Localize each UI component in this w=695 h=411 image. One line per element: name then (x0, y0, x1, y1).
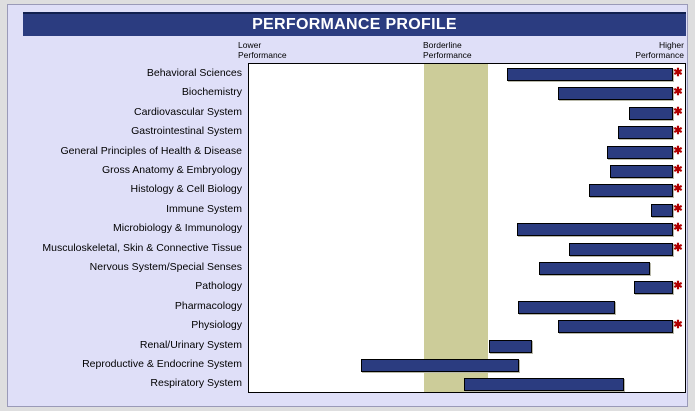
category-label: Histology & Cell Biology (131, 180, 242, 199)
category-label: Biochemistry (182, 83, 242, 102)
report-panel: PERFORMANCE PROFILE Lower Performance Bo… (7, 4, 688, 407)
category-label: Gastrointestinal System (131, 122, 242, 141)
caption-lower-line2: Performance (238, 50, 287, 60)
bar-row (249, 375, 685, 392)
performance-bar (539, 262, 651, 275)
category-label: Pharmacology (175, 297, 242, 316)
performance-bar (464, 378, 624, 391)
performance-chart (248, 63, 686, 393)
performance-bar (589, 184, 674, 197)
bar-row (249, 356, 685, 375)
performance-bar (569, 243, 674, 256)
bar-row (249, 65, 685, 84)
category-label: Behavioral Sciences (147, 64, 242, 83)
category-label: Physiology (191, 316, 242, 335)
performance-bar (634, 281, 673, 294)
high-performance-asterisk-icon: ✱ (672, 316, 684, 335)
category-label: Cardiovascular System (134, 103, 242, 122)
bar-row (249, 143, 685, 162)
high-performance-asterisk-icon: ✱ (672, 103, 684, 122)
performance-bar (517, 223, 673, 236)
high-performance-asterisk-icon: ✱ (672, 180, 684, 199)
category-label: Pathology (195, 277, 242, 296)
high-performance-marker-list: ✱✱✱✱✱✱✱✱✱✱✱✱ (672, 63, 686, 393)
performance-bar (651, 204, 673, 217)
high-performance-asterisk-icon: ✱ (672, 200, 684, 219)
chart-plot-area (249, 64, 685, 392)
performance-bar (518, 301, 615, 314)
performance-bar (558, 320, 674, 333)
bar-row (249, 240, 685, 259)
bar-row (249, 201, 685, 220)
category-label: Musculoskeletal, Skin & Connective Tissu… (42, 239, 242, 258)
performance-bar (489, 340, 533, 353)
caption-higher-line1: Higher (635, 40, 684, 50)
category-label-list: Behavioral SciencesBiochemistryCardiovas… (16, 63, 246, 393)
caption-borderline-line2: Performance (423, 50, 472, 60)
bar-row (249, 298, 685, 317)
bar-row (249, 162, 685, 181)
category-label: Respiratory System (150, 374, 242, 393)
caption-higher-line2: Performance (635, 50, 684, 60)
performance-bar (507, 68, 673, 81)
category-label: Microbiology & Immunology (113, 219, 242, 238)
high-performance-asterisk-icon: ✱ (672, 219, 684, 238)
high-performance-asterisk-icon: ✱ (672, 277, 684, 296)
bar-row (249, 84, 685, 103)
performance-bar (610, 165, 674, 178)
category-label: Reproductive & Endocrine System (82, 355, 242, 374)
bar-row (249, 181, 685, 200)
caption-borderline-performance: Borderline Performance (423, 40, 472, 60)
title-bar: PERFORMANCE PROFILE (23, 12, 686, 36)
high-performance-asterisk-icon: ✱ (672, 142, 684, 161)
category-label: Gross Anatomy & Embryology (102, 161, 242, 180)
category-label: Renal/Urinary System (140, 336, 242, 355)
bar-row (249, 317, 685, 336)
column-captions: Lower Performance Borderline Performance… (23, 38, 686, 62)
caption-higher-performance: Higher Performance (635, 40, 684, 60)
high-performance-asterisk-icon: ✱ (672, 64, 684, 83)
high-performance-asterisk-icon: ✱ (672, 83, 684, 102)
bar-row (249, 278, 685, 297)
performance-bar (361, 359, 520, 372)
performance-bar (629, 107, 673, 120)
bar-row (249, 337, 685, 356)
category-label: Immune System (166, 200, 242, 219)
high-performance-asterisk-icon: ✱ (672, 122, 684, 141)
performance-bar (558, 87, 674, 100)
caption-borderline-line1: Borderline (423, 40, 472, 50)
high-performance-asterisk-icon: ✱ (672, 239, 684, 258)
performance-bar (607, 146, 673, 159)
performance-bar (618, 126, 673, 139)
page-title: PERFORMANCE PROFILE (252, 16, 457, 34)
bar-row (249, 259, 685, 278)
bar-rows (249, 64, 685, 392)
bar-row (249, 104, 685, 123)
high-performance-asterisk-icon: ✱ (672, 161, 684, 180)
performance-profile-page: PERFORMANCE PROFILE Lower Performance Bo… (0, 0, 695, 411)
bar-row (249, 220, 685, 239)
category-label: Nervous System/Special Senses (90, 258, 242, 277)
bar-row (249, 123, 685, 142)
category-label: General Principles of Health & Disease (60, 142, 242, 161)
caption-lower-performance: Lower Performance (238, 40, 287, 60)
caption-lower-line1: Lower (238, 40, 287, 50)
